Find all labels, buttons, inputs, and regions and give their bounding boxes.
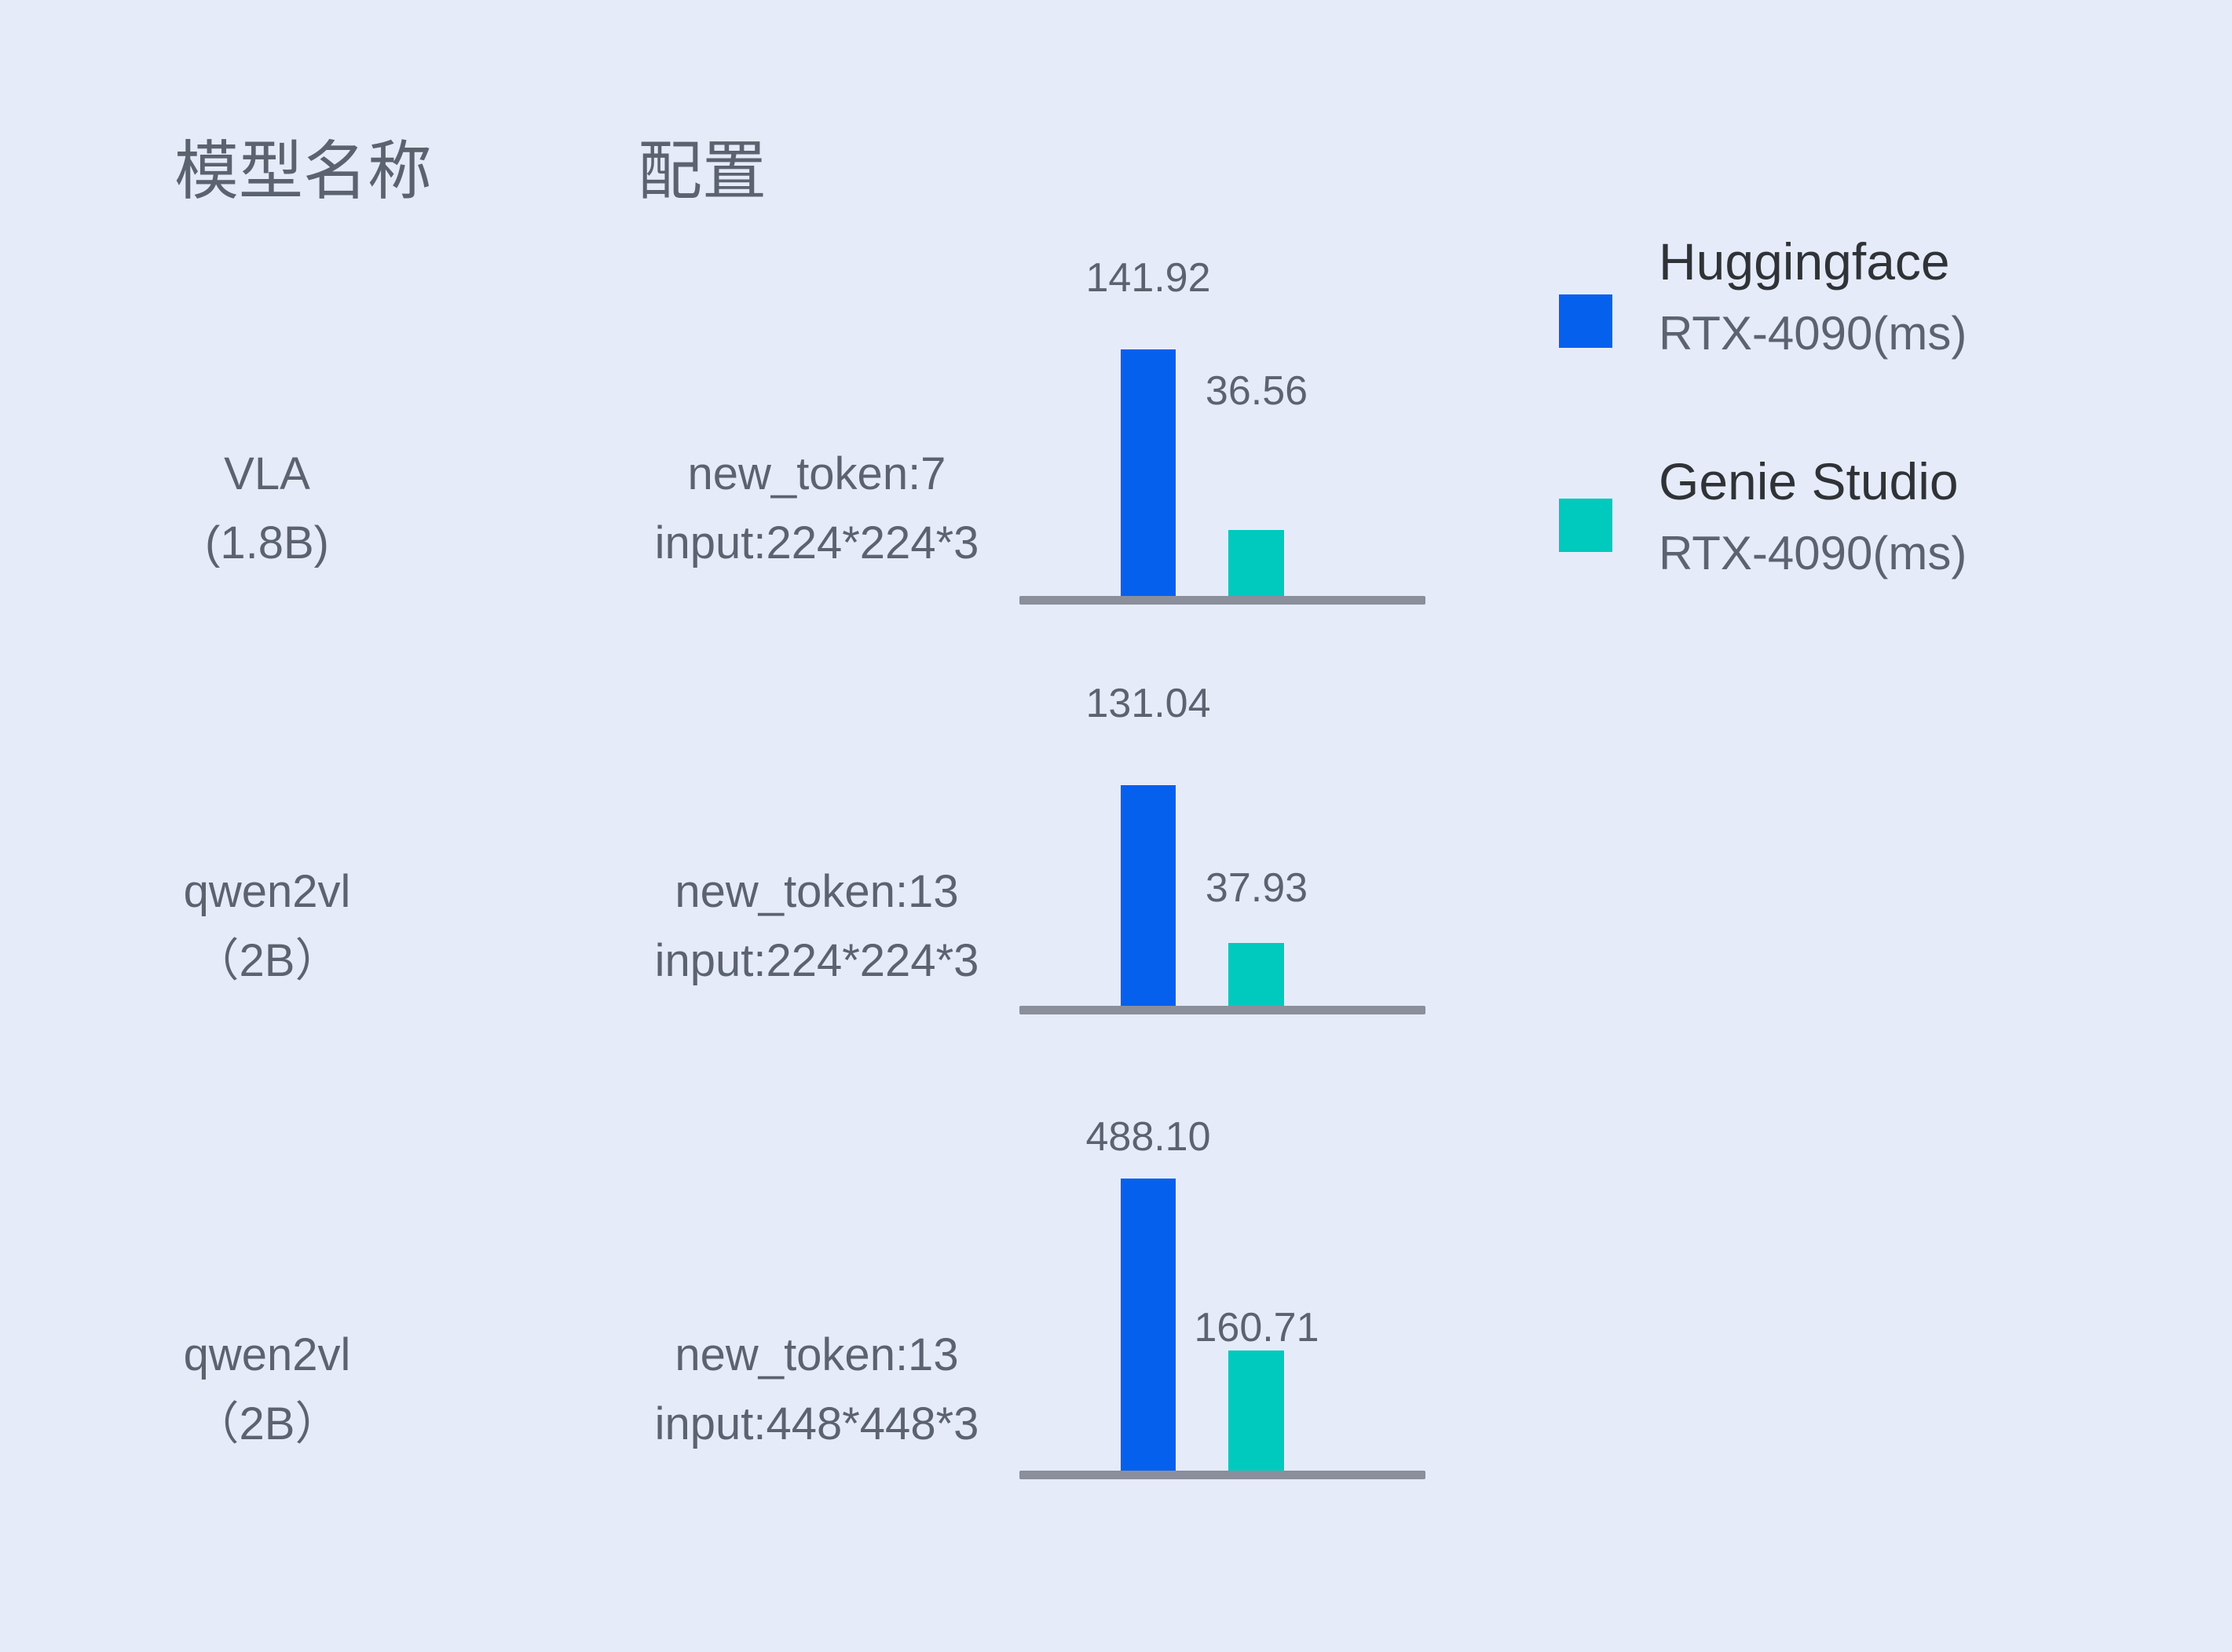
legend-title-huggingface: Huggingface bbox=[1659, 236, 1950, 287]
bar-huggingface[interactable] bbox=[1121, 349, 1176, 598]
bar-genie-studio[interactable] bbox=[1228, 530, 1284, 598]
bar-genie-studio[interactable] bbox=[1228, 1350, 1284, 1472]
bar-value-label-genie-studio: 160.71 bbox=[1194, 1307, 1319, 1348]
baseline-axis bbox=[1019, 596, 1425, 605]
bar-huggingface[interactable] bbox=[1121, 1179, 1176, 1476]
bar-panel: 488.10 160.71 bbox=[1019, 1099, 1425, 1479]
bar-genie-studio[interactable] bbox=[1228, 943, 1284, 1007]
baseline-axis bbox=[1019, 1006, 1425, 1014]
row-model-name-line2: （2B） bbox=[102, 927, 432, 996]
slide-root: 模型名称 配置 VLA (1.8B) new_token:7 input:224… bbox=[0, 0, 2232, 1652]
bar-value-label-genie-studio: 36.56 bbox=[1206, 371, 1308, 411]
bar-value-label-genie-studio: 37.93 bbox=[1206, 868, 1308, 908]
column-header-model-name: 模型名称 bbox=[174, 140, 432, 204]
bar-value-label-huggingface: 488.10 bbox=[1085, 1117, 1210, 1157]
legend-item-huggingface[interactable]: Huggingface RTX‑4090(ms) bbox=[1539, 236, 2183, 455]
column-header-config: 配置 bbox=[638, 140, 767, 204]
row-model-name-line2: (1.8B) bbox=[102, 509, 432, 578]
row-model-name: VLA (1.8B) bbox=[102, 440, 432, 578]
bar-huggingface[interactable] bbox=[1121, 785, 1176, 1007]
bar-value-label-huggingface: 131.04 bbox=[1085, 683, 1210, 724]
legend-subtitle-huggingface: RTX‑4090(ms) bbox=[1659, 310, 1967, 357]
bar-panel: 131.04 37.93 bbox=[1019, 660, 1425, 1014]
row-model-name-line1: qwen2vl bbox=[102, 857, 432, 927]
baseline-axis bbox=[1019, 1471, 1425, 1479]
bar-value-label-huggingface: 141.92 bbox=[1085, 258, 1210, 298]
bar-panel: 141.92 36.56 bbox=[1019, 236, 1425, 605]
legend-item-genie-studio[interactable]: Genie Studio RTX‑4090(ms) bbox=[1539, 455, 2183, 675]
row-model-name: qwen2vl （2B） bbox=[102, 857, 432, 996]
chart-legend: Huggingface RTX‑4090(ms) Genie Studio RT… bbox=[1539, 236, 2183, 675]
legend-subtitle-genie-studio: RTX‑4090(ms) bbox=[1659, 530, 1967, 577]
row-model-name-line2: （2B） bbox=[102, 1390, 432, 1459]
row-model-name-line1: qwen2vl bbox=[102, 1321, 432, 1390]
legend-title-genie-studio: Genie Studio bbox=[1659, 455, 1959, 507]
legend-swatch-genie-studio-icon bbox=[1559, 499, 1612, 552]
row-model-name-line1: VLA bbox=[102, 440, 432, 509]
legend-swatch-huggingface-icon bbox=[1559, 294, 1612, 348]
row-model-name: qwen2vl （2B） bbox=[102, 1321, 432, 1459]
